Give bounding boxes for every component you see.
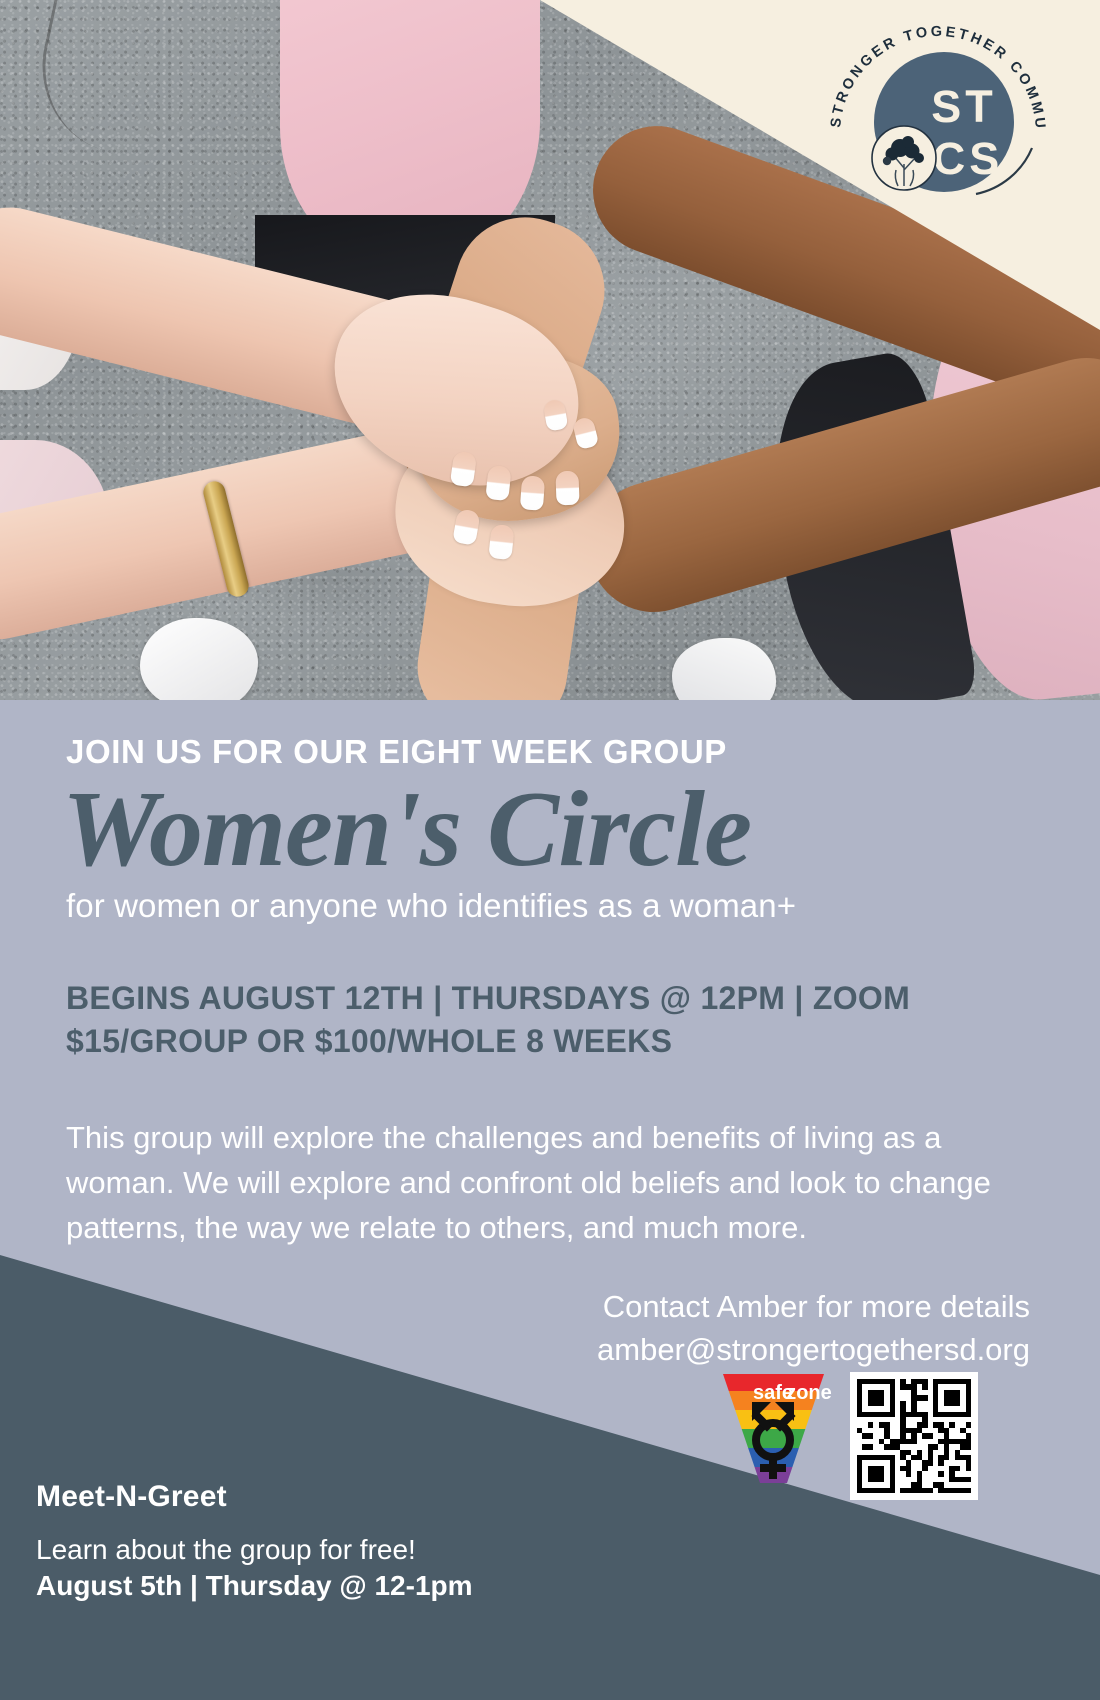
fingernail	[555, 471, 579, 506]
fingernail	[520, 475, 545, 511]
stcs-logo: STRONGER TOGETHER COMMUNITY SERVICES ST …	[818, 22, 1058, 222]
contact-block: Contact Amber for more details amber@str…	[0, 1286, 1030, 1372]
flyer-page: STRONGER TOGETHER COMMUNITY SERVICES ST …	[0, 0, 1100, 1700]
session-details: BEGINS AUGUST 12TH | THURSDAYS @ 12PM | …	[66, 977, 1100, 1062]
kicker-text: JOIN US FOR OUR EIGHT WEEK GROUP	[66, 733, 1100, 771]
body-paragraph: This group will explore the challenges a…	[66, 1116, 996, 1250]
logo-initials-line2: CS	[933, 133, 1004, 184]
shoe-white-right	[672, 638, 776, 706]
meet-n-greet-line-2: August 5th | Thursday @ 12-1pm	[36, 1570, 473, 1602]
shoe-white-left	[140, 618, 258, 706]
meet-n-greet-heading: Meet-N-Greet	[36, 1480, 473, 1514]
contact-email[interactable]: amber@strongertogethersd.org	[0, 1329, 1030, 1372]
page-title: Women's Circle	[62, 775, 1100, 885]
details-line-2: $15/GROUP OR $100/WHOLE 8 WEEKS	[66, 1020, 1100, 1063]
qr-code-modules	[857, 1379, 971, 1493]
fingernail	[488, 524, 514, 560]
fingernail	[485, 465, 511, 501]
safe-zone-badge: safe zone	[715, 1372, 832, 1485]
meet-n-greet-block: Meet-N-Greet Learn about the group for f…	[36, 1480, 473, 1602]
meet-n-greet-line-1: Learn about the group for free!	[36, 1534, 473, 1566]
contact-line: Contact Amber for more details	[0, 1286, 1030, 1329]
tree-of-life-icon	[872, 126, 936, 190]
details-line-1: BEGINS AUGUST 12TH | THURSDAYS @ 12PM | …	[66, 977, 1100, 1020]
flyer-content: JOIN US FOR OUR EIGHT WEEK GROUP Women's…	[0, 700, 1100, 1250]
qr-code[interactable]	[850, 1372, 978, 1500]
badge-row: safe zone	[715, 1372, 978, 1500]
subtitle-text: for women or anyone who identifies as a …	[66, 887, 1100, 925]
safe-zone-label-2: zone	[786, 1382, 832, 1404]
logo-initials-line1: ST	[931, 81, 997, 132]
